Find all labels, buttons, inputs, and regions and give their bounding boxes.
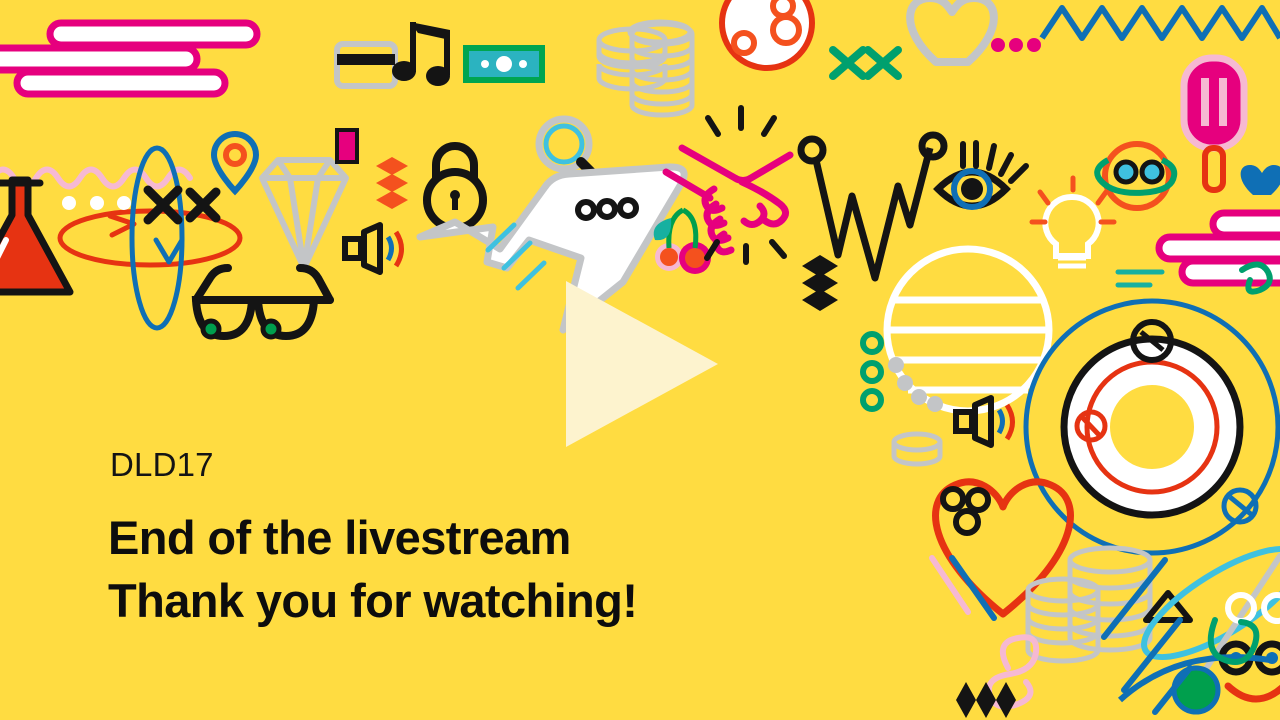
magenta-rectangle-icon [337,130,357,162]
eyebrow-label: DLD17 [110,448,637,481]
black-diamonds-row-icon [956,682,1016,718]
moon-icon [722,0,812,68]
banknote-icon [463,45,545,83]
text-block: DLD17 End of the livestream Thank you fo… [108,448,637,632]
green-ball-icon [1174,668,1218,712]
headline-line-2: Thank you for watching! [108,570,637,633]
white-dots-icon [62,196,131,210]
black-diamond-stack-icon [802,255,838,311]
headline-line-1: End of the livestream [108,507,637,570]
orange-diamond-stack-icon [376,157,408,209]
magenta-dots-icon [991,38,1041,52]
slide-root: DLD17 End of the livestream Thank you fo… [0,0,1280,720]
orbit-system-icon [1026,301,1278,553]
